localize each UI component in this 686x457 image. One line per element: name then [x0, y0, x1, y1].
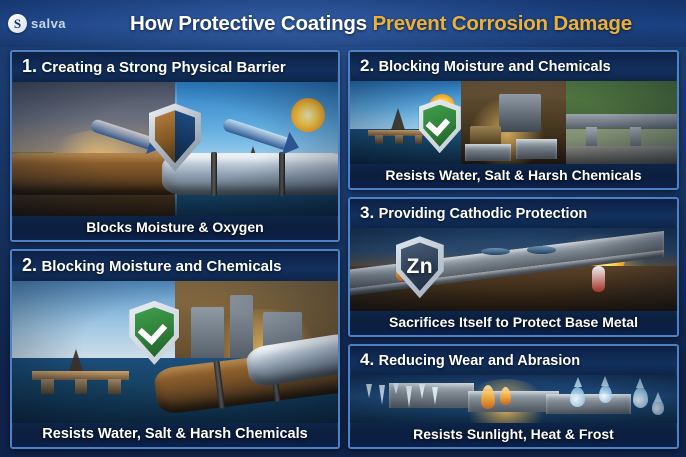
panel-r3-header: 3. Providing Cathodic Protection [350, 199, 677, 228]
panel-r2-number: 2. [360, 56, 374, 75]
panel-creating-strong-physical-barrier[interactable]: 1. Creating a Strong Physical Barrier [10, 50, 340, 242]
concrete-block-3 [546, 394, 631, 414]
page-title-accent: Prevent Corrosion Damage [372, 12, 632, 35]
panel-2-number: 2. [22, 255, 37, 275]
page-title: How Protective Coatings Prevent Corrosio… [82, 12, 686, 36]
panel-r3-artwork: Zn [350, 228, 677, 311]
panel-2-caption: Resists Water, Salt & Harsh Chemicals [12, 423, 338, 447]
panel-r4-caption: Resists Sunlight, Heat & Frost [350, 423, 677, 447]
panel-r2-artwork [350, 81, 677, 164]
panel-blocking-moisture-chemicals-right[interactable]: 2. Blocking Moisture and Chemicals [348, 50, 679, 190]
coated-pipe [162, 153, 338, 195]
panel-providing-cathodic-protection[interactable]: 3. Providing Cathodic Protection Zn [348, 197, 679, 337]
panel-r2-header: 2. Blocking Moisture and Chemicals [350, 52, 677, 81]
infographic-board: 1. Creating a Strong Physical Barrier [0, 47, 686, 457]
machinery-scene [461, 81, 566, 164]
panel-1-artwork [12, 82, 338, 216]
panel-r3-caption: Sacrifices Itself to Protect Base Metal [350, 311, 677, 335]
panel-r4-number: 4. [360, 350, 374, 369]
thermometer-icon [592, 266, 605, 292]
protected-side-scene [175, 82, 338, 216]
panel-2-header: 2. Blocking Moisture and Chemicals [12, 251, 338, 281]
brand-name: salva [31, 16, 66, 31]
panel-reducing-wear-abrasion[interactable]: 4. Reducing Wear and Abrasion [348, 344, 679, 449]
panel-1-number: 1. [22, 56, 37, 76]
panel-blocking-moisture-chemicals-left[interactable]: 2. Blocking Moisture and Chemicals [10, 249, 340, 449]
panel-r4-artwork [350, 375, 677, 423]
bridge-scene [566, 81, 677, 164]
panel-2-title: Blocking Moisture and Chemicals [41, 258, 281, 275]
water-drop-1 [570, 387, 585, 407]
water-drop-3 [633, 387, 648, 408]
panel-2-artwork [12, 281, 338, 423]
panel-1-title: Creating a Strong Physical Barrier [41, 59, 285, 76]
page-header: salva How Protective Coatings Prevent Co… [0, 0, 686, 47]
sun-icon [291, 98, 325, 132]
water-drop-4 [652, 399, 664, 415]
right-column: 2. Blocking Moisture and Chemicals [348, 50, 679, 449]
panel-r3-number: 3. [360, 203, 374, 222]
offshore-rig-icon [32, 344, 130, 381]
water-drop-2 [599, 385, 612, 403]
panel-r4-header: 4. Reducing Wear and Abrasion [350, 346, 677, 375]
panel-r3-title: Providing Cathodic Protection [379, 206, 588, 222]
left-column: 1. Creating a Strong Physical Barrier [10, 50, 340, 449]
panel-r4-title: Reducing Wear and Abrasion [379, 353, 580, 369]
panel-1-header: 1. Creating a Strong Physical Barrier [12, 52, 338, 82]
circle-s-logo-icon [8, 14, 27, 33]
panel-r2-title: Blocking Moisture and Chemicals [379, 59, 611, 75]
zinc-symbol-label: Zn [406, 255, 433, 279]
anode-node-2 [527, 246, 556, 253]
page-title-primary: How Protective Coatings [130, 12, 367, 35]
panel-r2-caption: Resists Water, Salt & Harsh Chemicals [350, 164, 677, 188]
brand-logo[interactable]: salva [8, 14, 82, 33]
panel-1-caption: Blocks Moisture & Oxygen [12, 216, 338, 240]
